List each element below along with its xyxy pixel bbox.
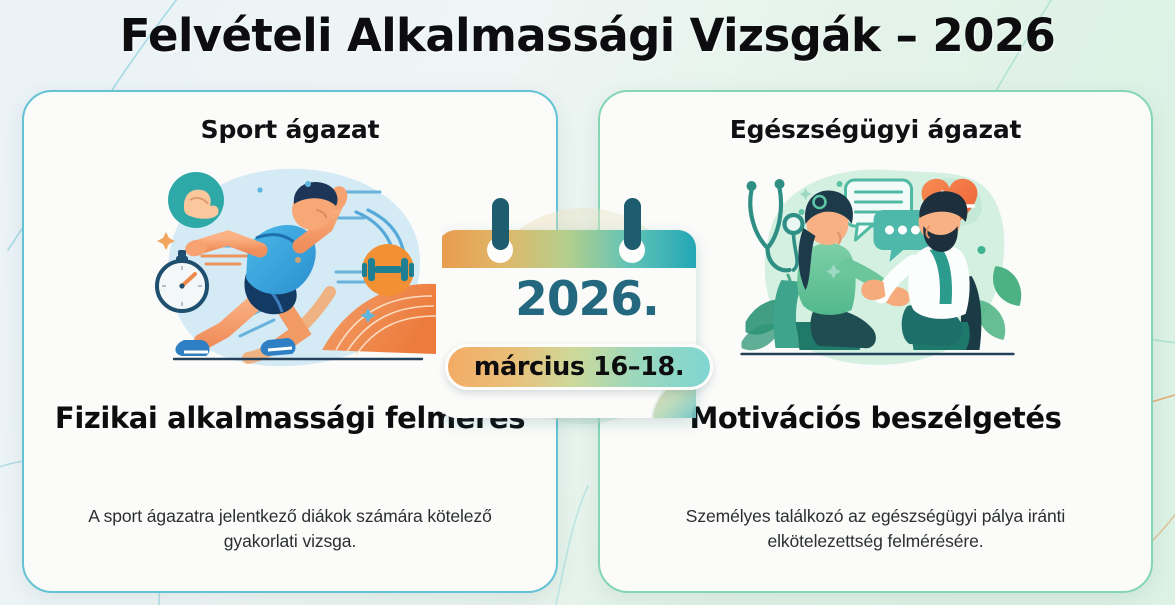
card-health-description: Személyes találkozó az egészségügyi pály… [634,504,1117,555]
calendar-date-label: március 16–18. [474,352,684,382]
calendar-year-label: 2026. [442,272,732,327]
running-shoe [175,340,209,356]
calendar-graphic [442,196,732,466]
page-title: Felvételi Alkalmassági Vizsgák – 2026 [0,9,1175,62]
calendar-ring [624,200,641,250]
calendar-header-bar [442,230,696,268]
card-health-title: Egészségügyi ágazat [600,115,1151,144]
card-sport-title: Sport ágazat [24,115,556,144]
calendar-ring [492,200,509,250]
doctor-patient-consultation-illustration [723,154,1028,394]
running-athlete-illustration [140,154,440,394]
calendar-date-badge: 2026. március 16–18. [442,196,732,466]
calendar-date-pill: március 16–18. [445,344,713,390]
dumbbell-icon [362,244,414,296]
card-sport-description: A sport ágazatra jelentkező diákok számá… [58,504,522,555]
bicep-flex-icon [168,172,224,228]
doctor-hand [861,280,885,300]
